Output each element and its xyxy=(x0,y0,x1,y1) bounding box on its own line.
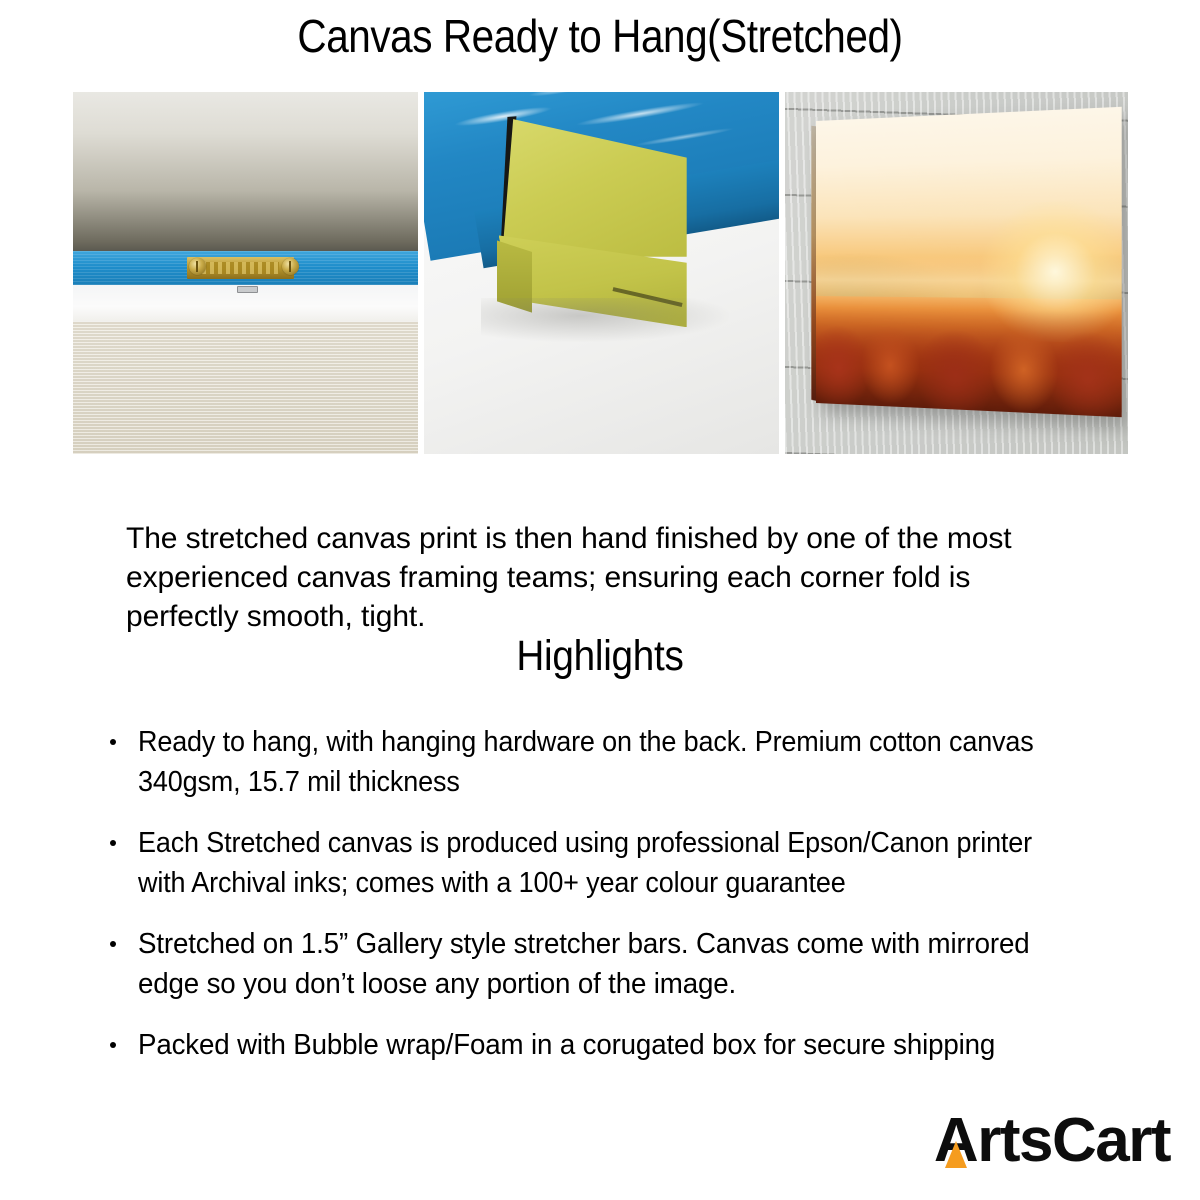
brand-logo-text: rtsCart xyxy=(977,1110,1170,1172)
page-title: Canvas Ready to Hang(Stretched) xyxy=(72,12,1128,60)
landscape-foliage xyxy=(816,307,1121,417)
list-item: Each Stretched canvas is produced using … xyxy=(104,823,1114,903)
raw-canvas-surface xyxy=(73,322,418,454)
list-item-label: Stretched on 1.5” Gallery style stretche… xyxy=(138,924,1070,1004)
list-item: Packed with Bubble wrap/Foam in a coruga… xyxy=(104,1025,1114,1065)
bullet-dot-icon xyxy=(110,840,116,846)
bullet-dot-icon xyxy=(110,1042,116,1048)
wire-hook-icon xyxy=(237,286,258,293)
list-item-label: Packed with Bubble wrap/Foam in a coruga… xyxy=(138,1025,995,1065)
wall-shadow xyxy=(73,92,418,251)
bullet-dot-icon xyxy=(110,739,116,745)
bullet-dot-icon xyxy=(110,941,116,947)
screw-left-icon xyxy=(189,258,206,275)
highlights-heading: Highlights xyxy=(60,632,1140,681)
intro-paragraph: The stretched canvas print is then hand … xyxy=(126,519,1076,636)
canvas-print-face xyxy=(816,107,1121,418)
product-image-strip xyxy=(73,92,1128,454)
list-item: Stretched on 1.5” Gallery style stretche… xyxy=(104,924,1114,1004)
image-corner-fold-detail xyxy=(424,92,779,454)
image-canvas-back-hanging-hardware xyxy=(73,92,418,454)
screw-right-icon xyxy=(282,258,299,275)
brand-logo: A rtsCart xyxy=(934,1110,1170,1172)
list-item-label: Ready to hang, with hanging hardware on … xyxy=(138,722,1046,802)
brand-logo-letter-a: A xyxy=(934,1110,977,1172)
list-item-label: Each Stretched canvas is produced using … xyxy=(138,823,1046,903)
brand-logo-letter-a-glyph: A xyxy=(934,1106,977,1175)
list-item: Ready to hang, with hanging hardware on … xyxy=(104,722,1114,802)
cast-shadow xyxy=(481,298,730,341)
highlights-list: Ready to hang, with hanging hardware on … xyxy=(104,722,1114,1065)
image-hung-canvas-sunset-landscape xyxy=(785,92,1128,454)
